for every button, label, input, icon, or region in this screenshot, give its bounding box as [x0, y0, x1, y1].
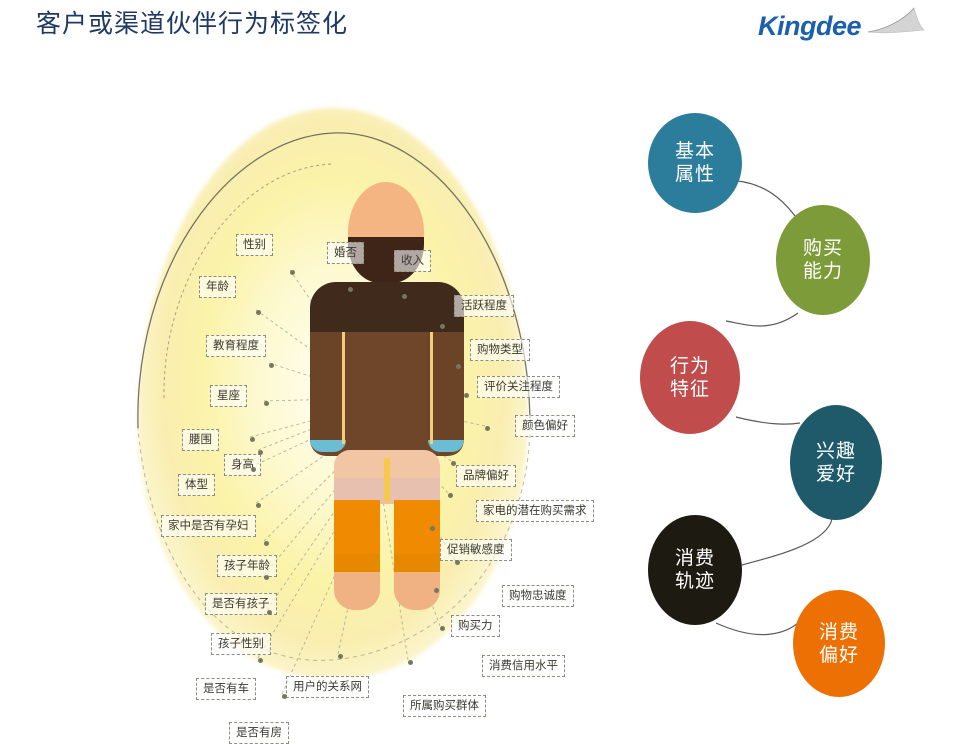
figure-right-arm — [428, 332, 464, 452]
attribute-tag: 评价关注程度 — [477, 376, 560, 398]
attribute-tag: 家中是否有孕妇 — [161, 515, 256, 537]
attribute-tag: 品牌偏好 — [456, 465, 516, 487]
attribute-tag: 购物类型 — [470, 339, 530, 361]
page-title: 客户或渠道伙伴行为标签化 — [36, 8, 348, 40]
attribute-anchor-dot — [256, 310, 261, 315]
category-bubble-line1: 消费 — [819, 621, 859, 644]
attribute-anchor-dot — [455, 560, 460, 565]
attribute-anchor-dot — [464, 393, 469, 398]
category-bubble-line2: 特征 — [670, 378, 710, 401]
kingdee-logo: Kingdee — [758, 10, 908, 44]
figure-left-arm-seam — [342, 332, 345, 444]
attribute-anchor-dot — [250, 437, 255, 442]
logo-swoosh-icon — [866, 6, 926, 36]
attribute-anchor-dot — [448, 493, 453, 498]
category-bubble-line1: 兴趣 — [816, 440, 856, 463]
attribute-tag: 活跃程度 — [454, 295, 514, 317]
attribute-anchor-dot — [430, 526, 435, 531]
attribute-tag: 收入 — [394, 250, 431, 272]
category-bubble[interactable]: 行为特征 — [640, 321, 740, 434]
category-bubble-line2: 爱好 — [816, 463, 856, 486]
attribute-anchor-dot — [251, 467, 256, 472]
attribute-anchor-dot — [267, 610, 272, 615]
category-bubble[interactable]: 消费偏好 — [793, 590, 885, 697]
attribute-tag: 家电的潜在购买需求 — [476, 500, 594, 522]
category-bubble-line1: 基本 — [675, 140, 715, 163]
category-bubble-line2: 属性 — [675, 163, 715, 186]
category-bubble-line1: 消费 — [675, 547, 715, 570]
attribute-anchor-dot — [440, 324, 445, 329]
category-bubble[interactable]: 消费轨迹 — [648, 515, 742, 625]
attribute-anchor-dot — [434, 588, 439, 593]
attribute-tag: 孩子年龄 — [217, 555, 277, 577]
category-bubble[interactable]: 兴趣爱好 — [790, 405, 882, 520]
attribute-tag: 年龄 — [199, 276, 236, 298]
attribute-tag: 身高 — [224, 454, 261, 476]
attribute-tag: 是否有车 — [196, 678, 256, 700]
attribute-anchor-dot — [348, 287, 353, 292]
attribute-anchor-dot — [264, 401, 269, 406]
attribute-anchor-dot — [451, 461, 456, 466]
attribute-tag: 所属购买群体 — [403, 695, 486, 717]
category-bubble-line2: 能力 — [803, 260, 843, 283]
attribute-anchor-dot — [485, 426, 490, 431]
category-bubble[interactable]: 购买能力 — [776, 205, 870, 315]
attribute-anchor-dot — [338, 654, 343, 659]
attribute-anchor-dot — [408, 660, 413, 665]
category-bubble-line1: 行为 — [670, 355, 710, 378]
attribute-anchor-dot — [440, 626, 445, 631]
attribute-anchor-dot — [264, 541, 269, 546]
slide-header: 客户或渠道伙伴行为标签化 Kingdee — [0, 0, 960, 50]
attribute-tag: 促销敏感度 — [440, 539, 512, 561]
figure-leg-seam — [384, 458, 390, 502]
category-bubble-line2: 轨迹 — [675, 570, 715, 593]
attribute-anchor-dot — [282, 694, 287, 699]
figure-left-foot — [334, 572, 380, 610]
person-figure-illustration — [296, 182, 478, 582]
attribute-tag: 是否有房 — [229, 722, 289, 744]
attribute-tag: 性别 — [236, 234, 273, 256]
attribute-tag: 消费信用水平 — [482, 655, 565, 677]
attribute-tag: 孩子性别 — [211, 633, 271, 655]
attribute-tag: 颜色偏好 — [515, 415, 575, 437]
attribute-anchor-dot — [258, 658, 263, 663]
attribute-anchor-dot — [269, 363, 274, 368]
attribute-anchor-dot — [456, 364, 461, 369]
attribute-tag: 教育程度 — [206, 335, 266, 357]
category-bubble-group: 基本属性购买能力行为特征兴趣爱好消费轨迹消费偏好 — [620, 95, 960, 715]
attribute-anchor-dot — [264, 575, 269, 580]
attribute-anchor-dot — [402, 294, 407, 299]
attribute-anchor-dot — [256, 503, 261, 508]
attribute-tag: 是否有孩子 — [205, 593, 277, 615]
attribute-tag: 婚否 — [327, 242, 364, 264]
figure-left-arm — [310, 332, 346, 452]
attribute-tag: 购买力 — [451, 615, 500, 637]
category-bubble[interactable]: 基本属性 — [648, 113, 742, 213]
attribute-tag: 购物忠诚度 — [502, 585, 574, 607]
logo-wordmark: Kingdee — [758, 10, 861, 42]
attribute-tag: 星座 — [210, 385, 247, 407]
figure-right-arm-seam — [430, 332, 433, 444]
attribute-tag: 腰围 — [182, 429, 219, 451]
attribute-tag: 用户的关系网 — [286, 676, 369, 698]
attribute-tag: 体型 — [178, 474, 215, 496]
attribute-anchor-dot — [258, 450, 263, 455]
category-bubble-line1: 购买 — [803, 237, 843, 260]
category-bubble-line2: 偏好 — [819, 644, 859, 667]
attribute-anchor-dot — [290, 270, 295, 275]
customer-profile-diagram: 性别婚否收入年龄活跃程度教育程度购物类型星座评价关注程度颜色偏好腰围身高体型品牌… — [78, 98, 638, 698]
